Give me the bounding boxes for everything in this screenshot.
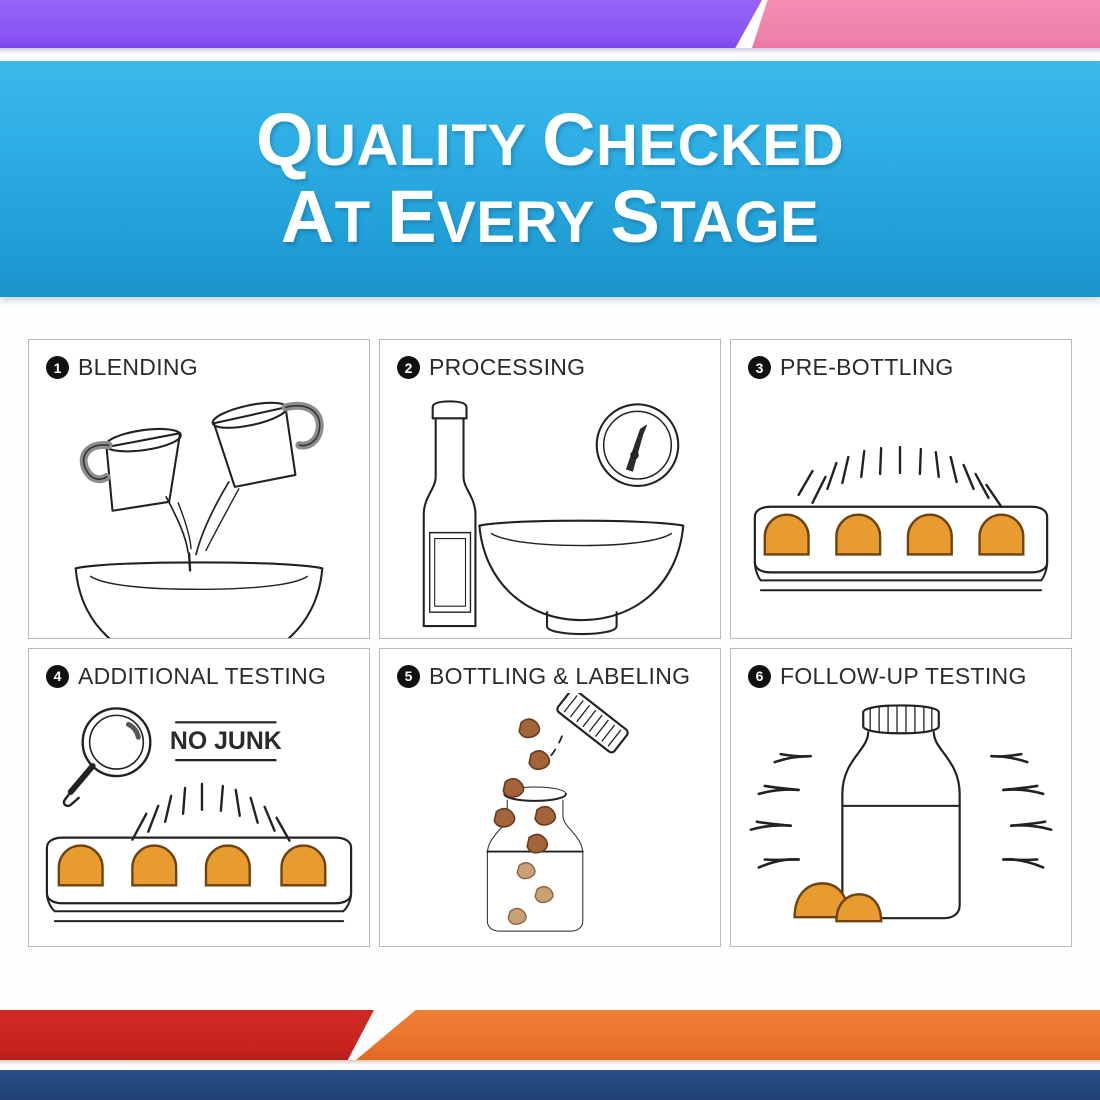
panel-6-header: 6 FOLLOW-UP TESTING <box>748 663 1027 690</box>
panel-step-3-pre-bottling: 3 PRE-BOTTLING <box>730 339 1072 639</box>
dispenser-chute <box>556 693 630 754</box>
panel-1-header: 1 BLENDING <box>46 354 198 381</box>
top-bar-shadow <box>0 48 1100 54</box>
step-number-badge: 6 <box>748 665 771 688</box>
title-lead-e: E <box>387 175 437 258</box>
panel-4-header: 4 ADDITIONAL TESTING <box>46 663 326 690</box>
panel-3-header: 3 PRE-BOTTLING <box>748 354 954 381</box>
step-number-badge: 1 <box>46 356 69 379</box>
title-lead-a: A <box>281 175 335 258</box>
processing-illustration <box>380 384 720 638</box>
blending-illustration <box>29 384 369 638</box>
title-rest-very: VERY <box>437 190 610 255</box>
title-lead-s: S <box>611 175 661 258</box>
bottom-bar-navy-segment <box>0 1070 1100 1100</box>
top-decorative-bar <box>0 0 1100 48</box>
bottling-labeling-illustration <box>380 693 720 947</box>
title-rest-t: T <box>335 190 388 255</box>
pre-bottling-illustration <box>731 384 1071 638</box>
title-lead-c: C <box>542 98 596 181</box>
panel-6-title: FOLLOW-UP TESTING <box>780 663 1027 690</box>
page-title-line-1: QUALITY CHECKED <box>256 104 844 177</box>
title-rest-tage: TAGE <box>660 190 819 255</box>
no-junk-label: NO JUNK <box>170 728 282 755</box>
shine-lines-right <box>991 754 1051 867</box>
tablet-row <box>59 845 325 885</box>
step-number-badge: 3 <box>748 356 771 379</box>
panel-5-title: BOTTLING & LABELING <box>429 663 690 690</box>
panel-3-title: PRE-BOTTLING <box>780 354 954 381</box>
additional-testing-illustration: NO JUNK <box>29 693 369 947</box>
bottom-bar-shadow <box>0 1060 1100 1065</box>
bottom-bar-red-segment <box>0 1010 374 1060</box>
sparkle-rays <box>132 783 289 840</box>
panel-step-6-follow-up-testing: 6 FOLLOW-UP TESTING <box>730 648 1072 948</box>
bottom-decorative-bar <box>0 1002 1100 1100</box>
page-title-line-2: AT EVERY STAGE <box>281 181 819 254</box>
bottom-bar-orange-segment <box>356 1010 1100 1060</box>
shine-lines-left <box>751 754 811 867</box>
infographic-root: QUALITY CHECKED AT EVERY STAGE 1 BLENDIN… <box>0 0 1100 1100</box>
step-number-badge: 4 <box>46 665 69 688</box>
tablet-row <box>765 515 1023 555</box>
panel-4-title: ADDITIONAL TESTING <box>78 663 326 690</box>
step-number-badge: 5 <box>397 665 420 688</box>
falling-pellets <box>494 719 555 924</box>
panel-5-header: 5 BOTTLING & LABELING <box>397 663 690 690</box>
loose-tablets <box>795 883 881 921</box>
panel-2-title: PROCESSING <box>429 354 585 381</box>
step-number-badge: 2 <box>397 356 420 379</box>
sparkle-rays <box>799 447 1002 507</box>
title-lead-q: Q <box>256 98 314 181</box>
title-rest-hecked: HECKED <box>596 113 844 178</box>
panel-step-1-blending: 1 BLENDING <box>28 339 370 639</box>
bottom-bar-bands <box>0 1010 1100 1060</box>
process-step-grid: 1 BLENDING <box>28 339 1072 947</box>
follow-up-testing-illustration <box>731 693 1071 947</box>
panel-step-2-processing: 2 PROCESSING <box>379 339 721 639</box>
panel-step-5-bottling-labeling: 5 BOTTLING & LABELING <box>379 648 721 948</box>
top-bar-pink-segment <box>752 0 1100 48</box>
top-bar-purple-segment <box>0 0 762 48</box>
title-rest-uality: UALITY <box>314 113 542 178</box>
header-banner: QUALITY CHECKED AT EVERY STAGE <box>0 61 1100 297</box>
panel-2-header: 2 PROCESSING <box>397 354 585 381</box>
panel-step-4-additional-testing: 4 ADDITIONAL TESTING <box>28 648 370 948</box>
panel-1-title: BLENDING <box>78 354 198 381</box>
